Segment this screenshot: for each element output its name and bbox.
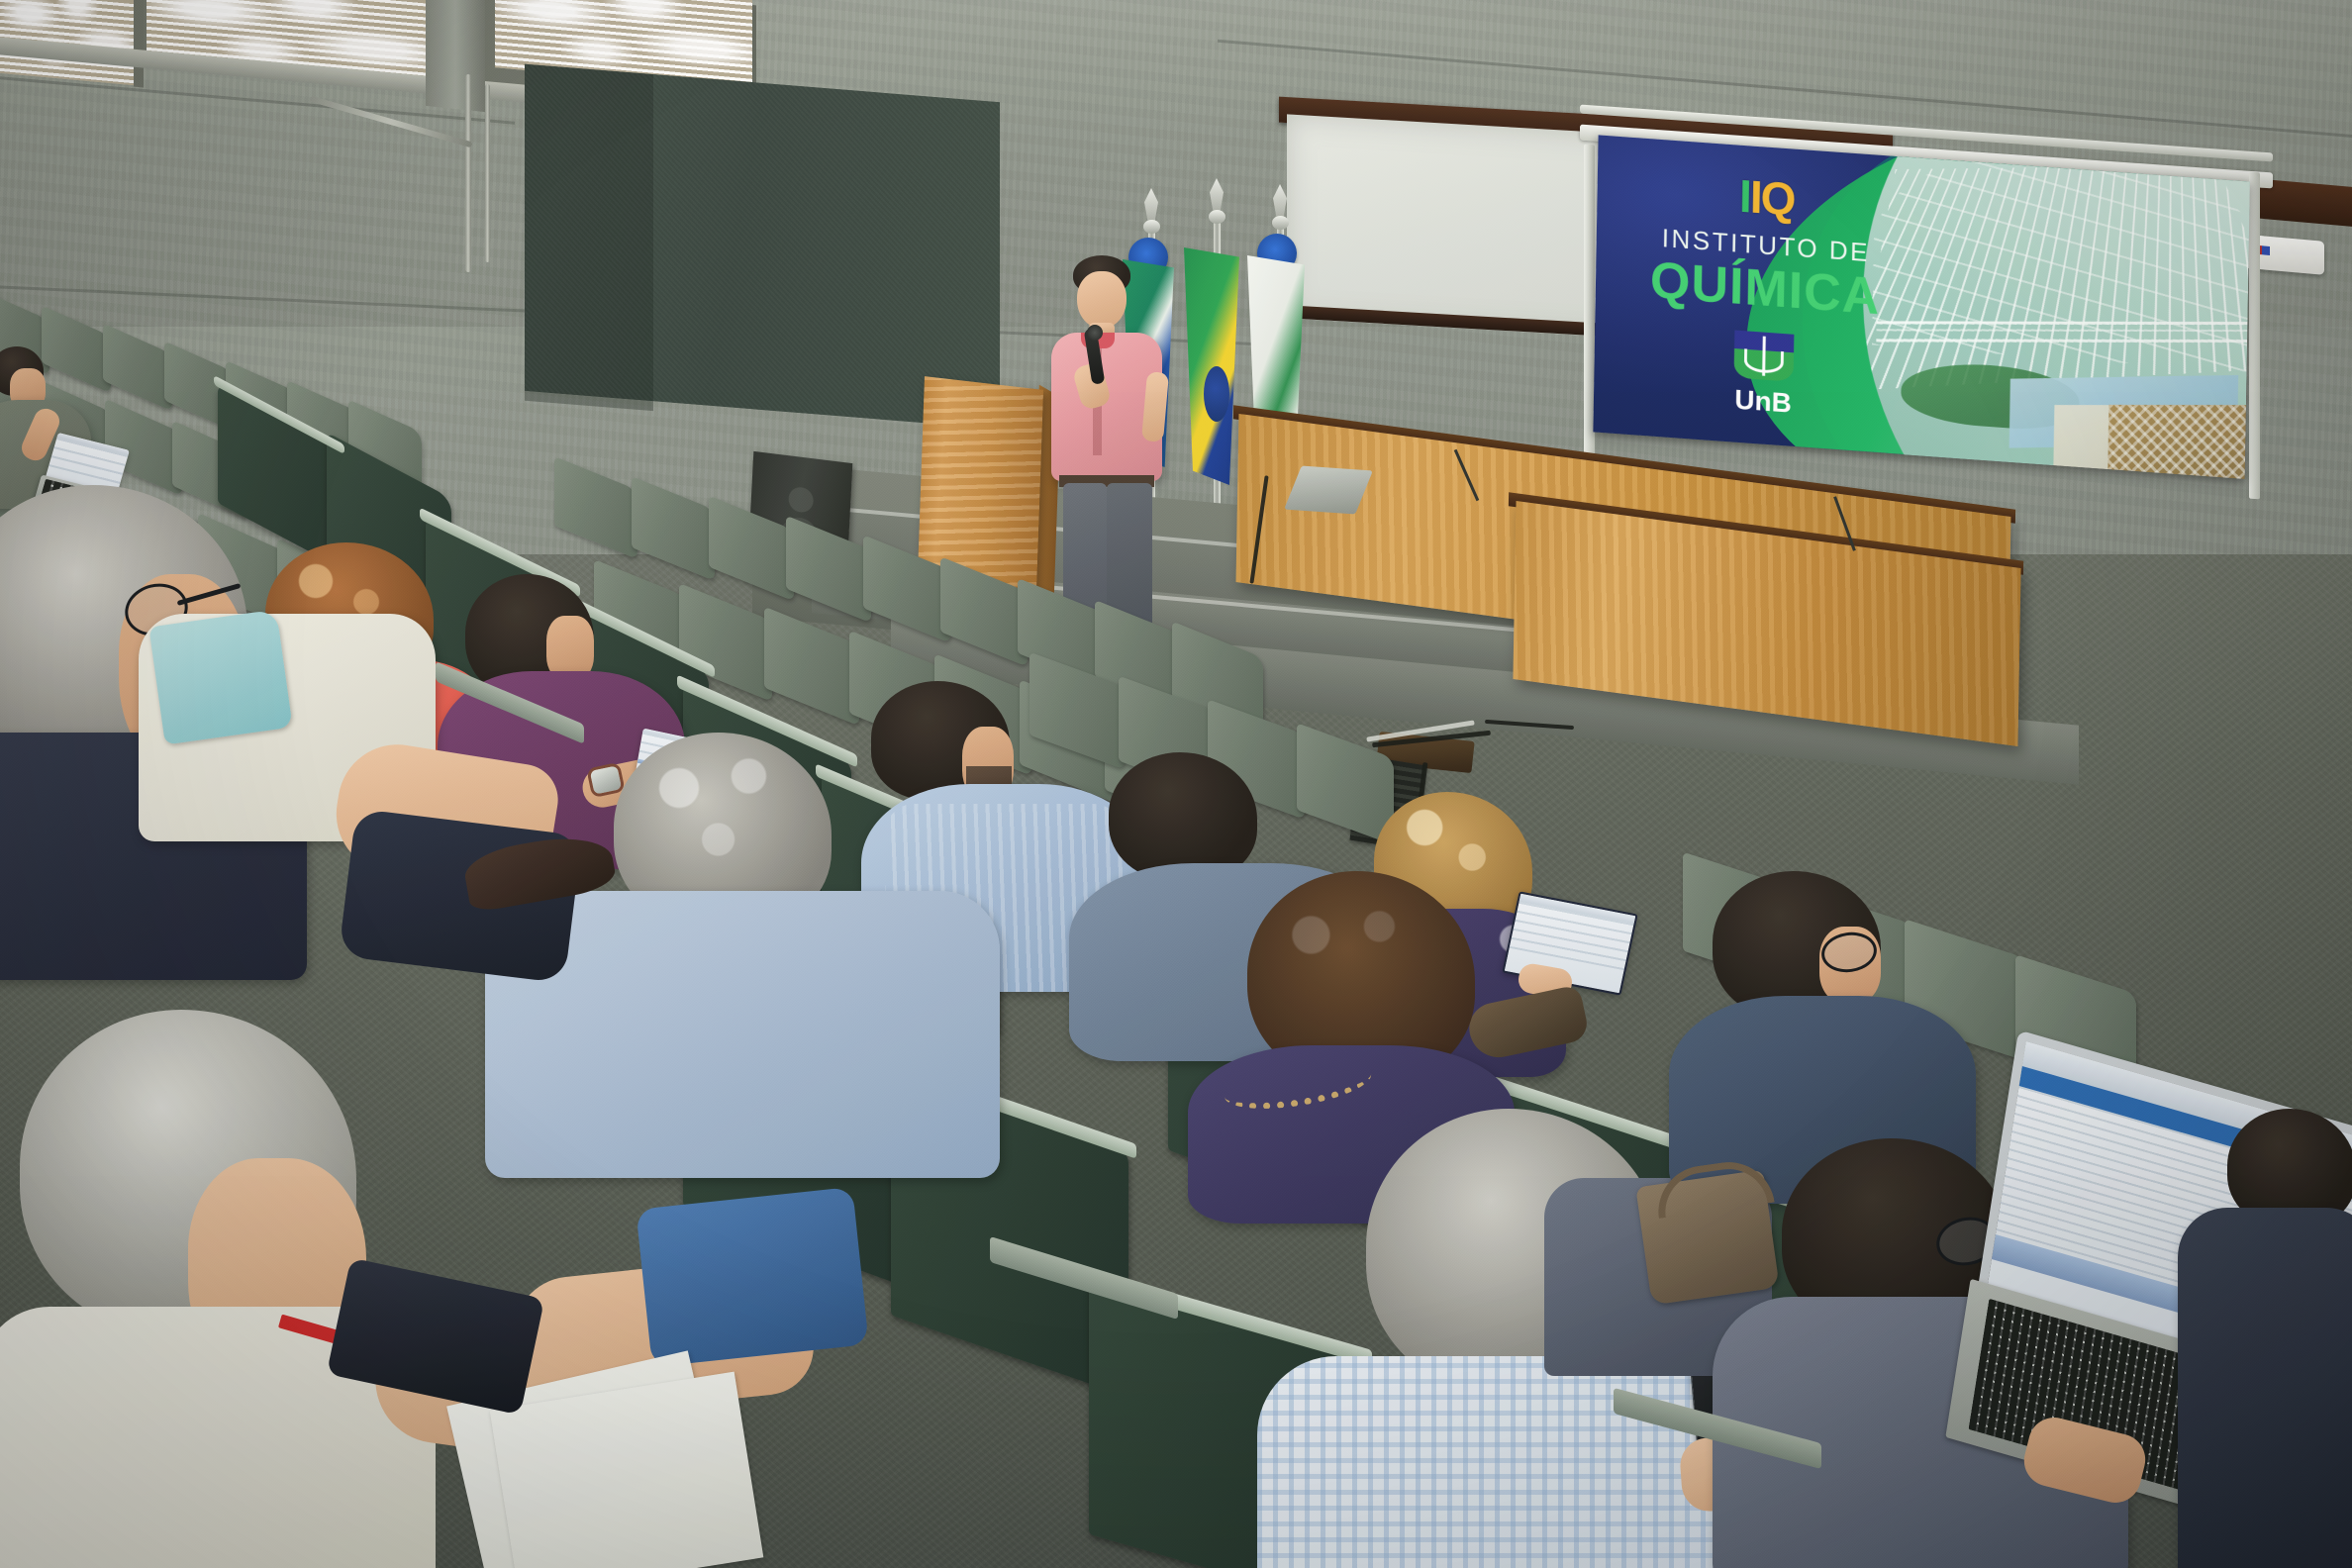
- event-banner: IIQ INSTITUTO DE QUÍMICA UnB: [1593, 135, 2249, 478]
- flag-ball-ornament: [1143, 220, 1160, 234]
- teal-pouch: [148, 610, 292, 745]
- hair: [1109, 752, 1257, 881]
- person-grayhair-blueshirt: [614, 733, 1010, 1148]
- dark-folder: [327, 1258, 545, 1416]
- auditorium-photograph: IIQ INSTITUTO DE QUÍMICA UnB: [0, 0, 2352, 1568]
- window-mullion: [134, 0, 144, 87]
- banner-text-block: IIQ INSTITUTO DE QUÍMICA UnB: [1619, 164, 1911, 428]
- ceiling-beam: [426, 0, 485, 112]
- dark-jacket: [2178, 1208, 2352, 1568]
- iq-logo-accent: IQ: [1749, 170, 1794, 225]
- unb-emblem-icon: [1734, 331, 1795, 382]
- banner-building-photo: [1860, 147, 2249, 479]
- presenter-arm-right: [1141, 371, 1169, 442]
- banner-institution-label: UnB: [1619, 375, 1908, 428]
- conduit-pipe: [485, 84, 490, 262]
- microphone-head-icon: [1087, 325, 1103, 341]
- foreground-hands-papers: [218, 1227, 832, 1568]
- flag-brazil-globe: [1204, 366, 1229, 422]
- flag-ball-ornament: [1209, 210, 1225, 224]
- flag-cloth: [1184, 247, 1239, 485]
- denim-sleeve: [636, 1187, 869, 1367]
- patterned-brick-screen: [2107, 405, 2250, 479]
- person-white-top-woman: [139, 594, 594, 970]
- conduit-pipe: [465, 74, 471, 272]
- acoustic-panel-texture: [525, 64, 1000, 430]
- banner-post-right: [2249, 172, 2260, 500]
- person-darkjacket-right: [2188, 1109, 2352, 1568]
- presenter-face: [1077, 271, 1127, 329]
- flag-ball-ornament: [1272, 216, 1289, 230]
- walkway-railing: [1876, 321, 2250, 365]
